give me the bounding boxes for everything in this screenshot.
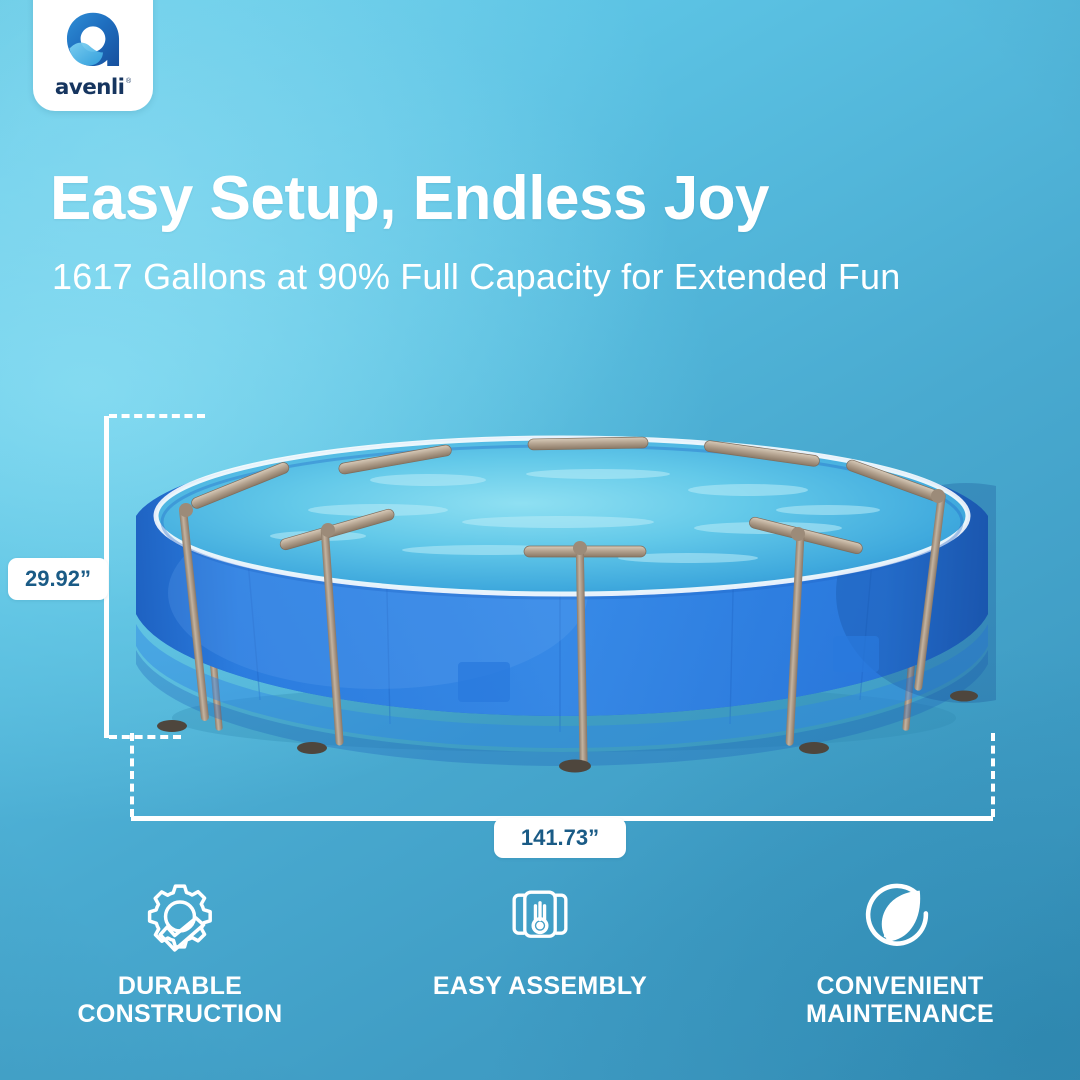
- headline: Easy Setup, Endless Joy: [50, 168, 1045, 230]
- width-extension-right: [991, 733, 995, 817]
- gear-check-icon: [142, 880, 218, 956]
- thermometer-frame-icon: [502, 880, 578, 956]
- feature-item-easy-assembly: EASY ASSEMBLY: [360, 880, 720, 1055]
- brand-wordmark: avenli ®: [55, 77, 131, 99]
- brand-name-text: avenli: [55, 77, 125, 99]
- subheadline: 1617 Gallons at 90% Full Capacity for Ex…: [52, 256, 1052, 297]
- width-dimension-label: 141.73”: [494, 818, 626, 858]
- feature-list: DURABLE CONSTRUCTION EASY ASSEMBLY: [0, 880, 1080, 1055]
- avenli-a-mark-icon: [62, 9, 124, 71]
- height-dimension-label: 29.92”: [8, 558, 108, 600]
- feature-label: DURABLE CONSTRUCTION: [78, 972, 283, 1028]
- leaf-circle-icon: [862, 880, 938, 956]
- poster-canvas: avenli ® Easy Setup, Endless Joy 1617 Ga…: [0, 0, 1080, 1080]
- height-extension-bottom: [109, 735, 181, 739]
- pool-illustration: [128, 418, 996, 778]
- feature-label: EASY ASSEMBLY: [433, 972, 647, 1000]
- product-image-pool: [128, 418, 996, 778]
- registered-mark: ®: [126, 78, 131, 85]
- brand-logo-badge: avenli ®: [33, 0, 153, 111]
- feature-item-durable-construction: DURABLE CONSTRUCTION: [0, 880, 360, 1055]
- feature-label: CONVENIENT MAINTENANCE: [806, 972, 994, 1028]
- width-extension-left: [130, 733, 134, 817]
- height-extension-top: [109, 414, 205, 418]
- feature-item-convenient-maintenance: CONVENIENT MAINTENANCE: [720, 880, 1080, 1055]
